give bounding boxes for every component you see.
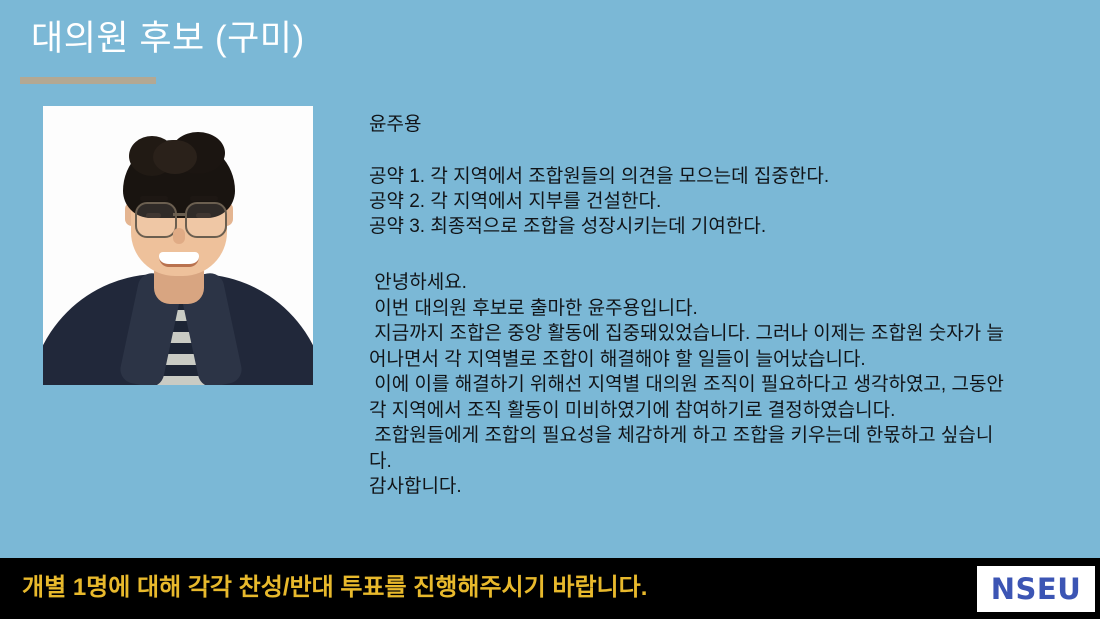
photo-glasses-left — [135, 202, 177, 238]
footer-bar: 개별 1명에 대해 각각 찬성/반대 투표를 진행해주시기 바랍니다. — [0, 558, 1100, 619]
nseu-logo-text: NSEU — [991, 572, 1082, 606]
slide-canvas: 대의원 후보 (구미) — [0, 0, 1100, 619]
page-title: 대의원 후보 (구미) — [31, 17, 305, 61]
photo-mouth — [159, 252, 199, 267]
voting-instruction-note: 개별 1명에 대해 각각 찬성/반대 투표를 진행해주시기 바랍니다. — [22, 571, 647, 605]
pledge-list: 공약 1. 각 지역에서 조합원들의 의견을 모으는데 집중한다. 공약 2. … — [369, 164, 1005, 239]
photo-eyebrow-left — [140, 196, 168, 201]
candidate-content: 윤주용 공약 1. 각 지역에서 조합원들의 의견을 모으는데 집중한다. 공약… — [369, 112, 1005, 500]
pledge-item: 공약 2. 각 지역에서 지부를 건설한다. — [369, 189, 1005, 214]
photo-glasses-bridge — [173, 213, 185, 216]
title-area: 대의원 후보 (구미) — [0, 0, 1100, 95]
photo-hair-volume — [153, 140, 197, 174]
pledge-item: 공약 1. 각 지역에서 조합원들의 의견을 모으는데 집중한다. — [369, 164, 1005, 189]
candidate-photo — [43, 106, 313, 385]
photo-eyebrow-right — [190, 196, 218, 201]
title-accent-bar — [20, 77, 156, 84]
photo-glasses-right — [185, 202, 227, 238]
nseu-logo: NSEU — [977, 566, 1095, 612]
candidate-name: 윤주용 — [369, 112, 1005, 138]
photo-nose — [173, 228, 185, 244]
candidate-photo-frame — [43, 106, 313, 385]
candidate-speech: 안녕하세요. 이번 대의원 후보로 출마한 윤주용입니다. 지금까지 조합은 중… — [369, 270, 1005, 500]
pledge-item: 공약 3. 최종적으로 조합을 성장시키는데 기여한다. — [369, 214, 1005, 239]
